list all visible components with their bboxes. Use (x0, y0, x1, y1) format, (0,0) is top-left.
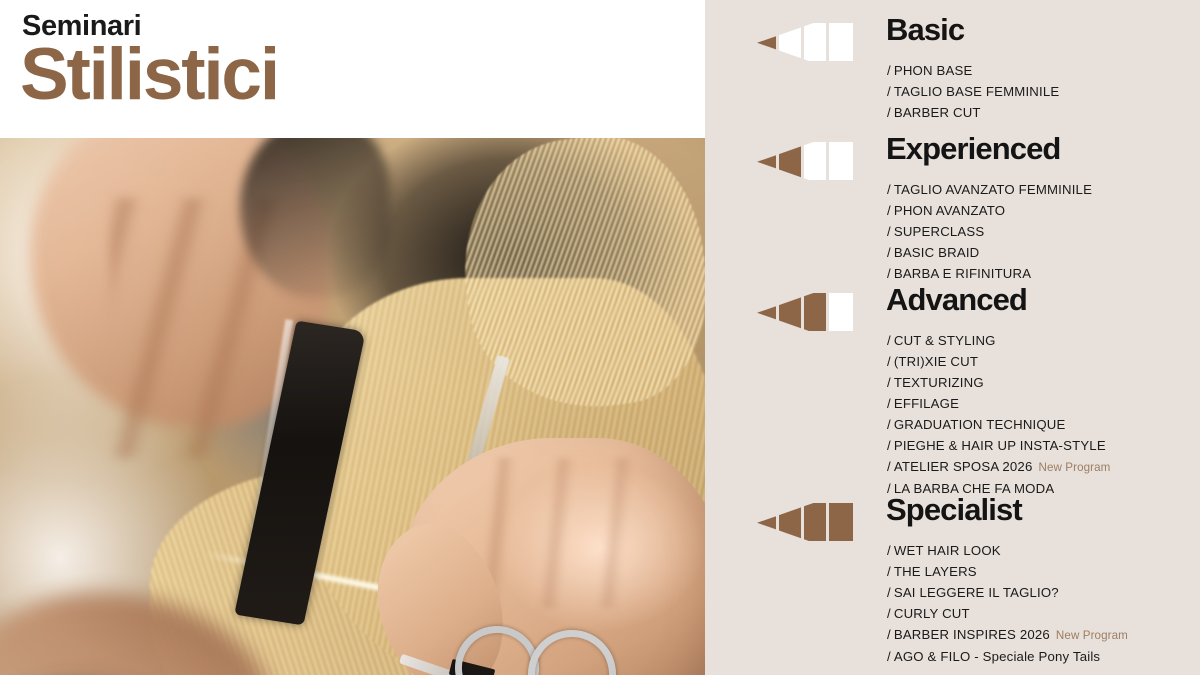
photo-layer-fingers-top (110, 198, 320, 458)
new-program-badge: New Program (1038, 461, 1110, 474)
list-marker: / (887, 564, 891, 579)
list-item-label: THE LAYERS (894, 564, 977, 579)
list-item-label: BARBA E RIFINITURA (894, 266, 1031, 281)
photo-layer-hair-part (202, 550, 488, 611)
title-block: Seminari Stilistici (0, 0, 705, 138)
list-item[interactable]: /PIEGHE & HAIR UP INSTA-STYLE (887, 435, 1110, 456)
list-item[interactable]: /SAI LEGGERE IL TAGLIO? (887, 582, 1128, 603)
photo-layer-blade (399, 654, 487, 675)
photo-layer-comb-edge (239, 319, 294, 617)
levels-panel: Basic /PHON BASE /TAGLIO BASE FEMMINILE … (705, 0, 1200, 675)
list-item-label: BARBER CUT (894, 105, 981, 120)
list-item-label: SUPERCLASS (894, 224, 984, 239)
list-item[interactable]: /TAGLIO BASE FEMMINILE (887, 81, 1059, 102)
list-item[interactable]: /BARBER INSPIRES 2026New Program (887, 624, 1128, 646)
section-heading: Specialist (886, 492, 1022, 529)
list-item-label: EFFILAGE (894, 396, 959, 411)
page-title: Stilistici (20, 38, 278, 111)
level-arrow-icon (757, 293, 857, 331)
list-marker: / (887, 224, 891, 239)
photo-layer-hair-main (300, 278, 705, 675)
list-item[interactable]: /BASIC BRAID (887, 242, 1092, 263)
list-item-label: WET HAIR LOOK (894, 543, 1001, 558)
list-marker: / (887, 105, 891, 120)
section-heading: Basic (886, 12, 964, 49)
list-item-label: PHON BASE (894, 63, 973, 78)
list-item-label: BARBER INSPIRES 2026 (894, 627, 1050, 642)
list-marker: / (887, 417, 891, 432)
photo-layer-scissor-ring-2 (521, 623, 623, 675)
list-marker: / (887, 585, 891, 600)
list-item[interactable]: /TAGLIO AVANZATO FEMMINILE (887, 179, 1092, 200)
list-item-label: SAI LEGGERE IL TAGLIO? (894, 585, 1059, 600)
list-item[interactable]: /THE LAYERS (887, 561, 1128, 582)
list-item-label: PHON AVANZATO (894, 203, 1005, 218)
list-marker: / (887, 543, 891, 558)
photo-layer-comb (234, 321, 366, 626)
list-item-label: PIEGHE & HAIR UP INSTA-STYLE (894, 438, 1106, 453)
list-item[interactable]: /PHON AVANZATO (887, 200, 1092, 221)
level-arrow-icon (757, 503, 857, 541)
list-marker: / (887, 333, 891, 348)
photo-layer-scissor-screw (449, 659, 496, 675)
list-item-label: GRADUATION TECHNIQUE (894, 417, 1066, 432)
list-item-label: BASIC BRAID (894, 245, 980, 260)
list-item-label: (TRI)XIE CUT (894, 354, 978, 369)
list-item-label: CURLY CUT (894, 606, 970, 621)
list-item-label: TEXTURIZING (894, 375, 984, 390)
list-item-label: TAGLIO AVANZATO FEMMINILE (894, 182, 1092, 197)
list-marker: / (887, 606, 891, 621)
list-item[interactable]: /BARBA E RIFINITURA (887, 263, 1092, 284)
list-marker: / (887, 649, 891, 664)
list-item[interactable]: /EFFILAGE (887, 393, 1110, 414)
list-marker: / (887, 182, 891, 197)
seminar-levels-slide: Seminari Stilistici (0, 0, 1200, 675)
list-item[interactable]: /AGO & FILO - Speciale Pony Tails (887, 646, 1128, 667)
list-marker: / (887, 203, 891, 218)
photo-layer-hair-lock (447, 138, 705, 423)
list-item[interactable]: /CURLY CUT (887, 603, 1128, 624)
list-marker: / (887, 459, 891, 474)
section-heading: Experienced (886, 131, 1060, 168)
photo-layer-knuckles (470, 458, 700, 608)
list-item[interactable]: /BARBER CUT (887, 102, 1059, 123)
photo-layer-dark-bg2 (420, 288, 705, 588)
list-item[interactable]: /CUT & STYLING (887, 330, 1110, 351)
section-item-list: /WET HAIR LOOK /THE LAYERS /SAI LEGGERE … (887, 540, 1128, 667)
list-marker: / (887, 63, 891, 78)
photo-layer-hair-left (150, 468, 510, 675)
photo-layer-foreground-hand (0, 593, 280, 675)
list-item[interactable]: /(TRI)XIE CUT (887, 351, 1110, 372)
level-arrow-icon (757, 142, 857, 180)
salon-photo (0, 138, 705, 675)
photo-layer-blade-upper (459, 355, 510, 493)
photo-layer-dark-bg (300, 138, 705, 448)
list-item[interactable]: /GRADUATION TECHNIQUE (887, 414, 1110, 435)
list-marker: / (887, 438, 891, 453)
list-item-label: ATELIER SPOSA 2026 (894, 459, 1033, 474)
list-item-label: AGO & FILO - Speciale Pony Tails (894, 649, 1100, 664)
list-marker: / (887, 245, 891, 260)
list-item-label: TAGLIO BASE FEMMINILE (894, 84, 1059, 99)
list-marker: / (887, 266, 891, 281)
list-marker: / (887, 627, 891, 642)
list-item-label: CUT & STYLING (894, 333, 996, 348)
photo-layer-thumb (357, 509, 524, 675)
section-item-list: /TAGLIO AVANZATO FEMMINILE /PHON AVANZAT… (887, 179, 1092, 284)
list-marker: / (887, 396, 891, 411)
list-marker: / (887, 375, 891, 390)
photo-layer-face (560, 668, 705, 675)
photo-layer-base (0, 138, 705, 675)
new-program-badge: New Program (1056, 629, 1128, 642)
list-marker: / (887, 84, 891, 99)
photo-layer-vignette (0, 138, 705, 675)
level-arrow-icon (757, 23, 857, 61)
list-item[interactable]: /SUPERCLASS (887, 221, 1092, 242)
photo-layer-hand-main (400, 438, 705, 675)
photo-layer-hand-top (30, 138, 330, 428)
left-column: Seminari Stilistici (0, 0, 705, 675)
list-marker: / (887, 354, 891, 369)
section-item-list: /PHON BASE /TAGLIO BASE FEMMINILE /BARBE… (887, 60, 1059, 123)
list-item[interactable]: /ATELIER SPOSA 2026New Program (887, 456, 1110, 478)
list-item[interactable]: /TEXTURIZING (887, 372, 1110, 393)
photo-layer-blue-blur (150, 288, 410, 548)
list-item[interactable]: /PHON BASE (887, 60, 1059, 81)
photo-layer-scissor-ring-1 (447, 618, 547, 675)
list-item[interactable]: /WET HAIR LOOK (887, 540, 1128, 561)
photo-layer-finger-dark (240, 138, 390, 298)
section-heading: Advanced (886, 282, 1027, 319)
section-item-list: /CUT & STYLING /(TRI)XIE CUT /TEXTURIZIN… (887, 330, 1110, 499)
